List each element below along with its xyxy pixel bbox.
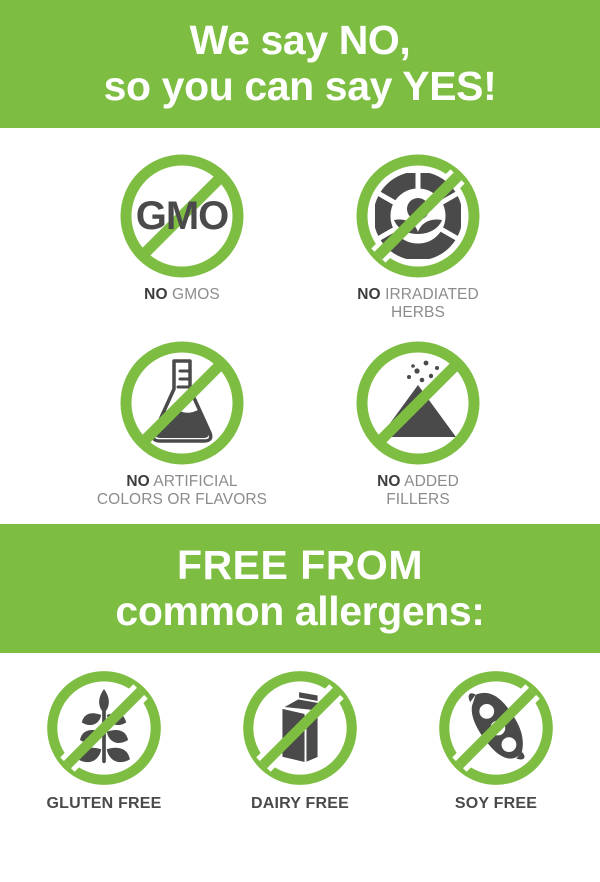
no-artificial-colors-caption: NO ARTIFICIAL COLORS OR FLAVORS bbox=[97, 473, 267, 510]
soy-free-label: SOY FREE bbox=[455, 795, 537, 813]
no-artificial-colors-badge: NO ARTIFICIAL COLORS OR FLAVORS bbox=[97, 337, 267, 510]
allergen-badge-row: GLUTEN FREE bbox=[0, 653, 600, 813]
gluten-free-wheat-icon bbox=[43, 667, 165, 789]
no-added-fillers-icon bbox=[352, 337, 484, 469]
no-badge-row-2: NO ARTIFICIAL COLORS OR FLAVORS bbox=[0, 337, 600, 510]
headline-mid-line-2: common allergens: bbox=[115, 589, 484, 635]
dairy-free-carton-icon bbox=[239, 667, 361, 789]
no-artificial-caption-line-1: ARTIFICIAL bbox=[153, 473, 237, 490]
gluten-free-label: GLUTEN FREE bbox=[46, 795, 161, 813]
svg-text:GMO: GMO bbox=[136, 194, 229, 238]
no-badge-row-1: GMO NO GMOS bbox=[0, 150, 600, 323]
headline-banner-top: We say NO, so you can say YES! bbox=[0, 0, 600, 128]
no-prefix: NO bbox=[377, 473, 400, 490]
no-irradiated-herbs-caption-line-1: IRRADIATED bbox=[385, 286, 479, 303]
no-gmo-badge: GMO NO GMOS bbox=[116, 150, 248, 323]
no-added-fillers-badge: NO ADDED FILLERS bbox=[352, 337, 484, 510]
no-irradiated-herbs-caption-line-2: HERBS bbox=[391, 304, 445, 321]
no-badge-cell-artificial: NO ARTIFICIAL COLORS OR FLAVORS bbox=[64, 337, 300, 510]
no-fillers-caption-line-1: ADDED bbox=[404, 473, 459, 490]
no-gmo-caption-line-1: GMOS bbox=[172, 286, 220, 303]
no-gmo-icon: GMO bbox=[116, 150, 248, 282]
no-prefix: NO bbox=[144, 286, 167, 303]
headline-mid-line-1: FREE FROM bbox=[177, 543, 423, 589]
no-prefix: NO bbox=[126, 473, 149, 490]
no-irradiated-herbs-caption: NO IRRADIATED HERBS bbox=[357, 286, 479, 323]
no-added-fillers-caption: NO ADDED FILLERS bbox=[377, 473, 459, 510]
dairy-free-label: DAIRY FREE bbox=[251, 795, 349, 813]
no-artificial-colors-flask-icon bbox=[116, 337, 248, 469]
no-gmo-caption: NO GMOS bbox=[144, 286, 220, 304]
no-badge-cell-irradiated-herbs: NO IRRADIATED HERBS bbox=[300, 150, 536, 323]
no-prefix: NO bbox=[357, 286, 380, 303]
no-fillers-caption-line-2: FILLERS bbox=[386, 491, 450, 508]
no-irradiated-herbs-icon bbox=[352, 150, 484, 282]
soy-free-badge: SOY FREE bbox=[398, 667, 594, 813]
no-badge-cell-fillers: NO ADDED FILLERS bbox=[300, 337, 536, 510]
dairy-free-badge: DAIRY FREE bbox=[202, 667, 398, 813]
soy-free-pod-icon bbox=[435, 667, 557, 789]
infographic-page: We say NO, so you can say YES! GMO NO GM… bbox=[0, 0, 600, 882]
headline-top-line-2: so you can say YES! bbox=[104, 64, 497, 110]
no-irradiated-herbs-badge: NO IRRADIATED HERBS bbox=[352, 150, 484, 323]
no-artificial-caption-line-2: COLORS OR FLAVORS bbox=[97, 491, 267, 508]
gluten-free-badge: GLUTEN FREE bbox=[6, 667, 202, 813]
headline-banner-allergens: FREE FROM common allergens: bbox=[0, 524, 600, 653]
no-badge-cell-gmo: GMO NO GMOS bbox=[64, 150, 300, 323]
headline-top-line-1: We say NO, bbox=[190, 18, 411, 64]
